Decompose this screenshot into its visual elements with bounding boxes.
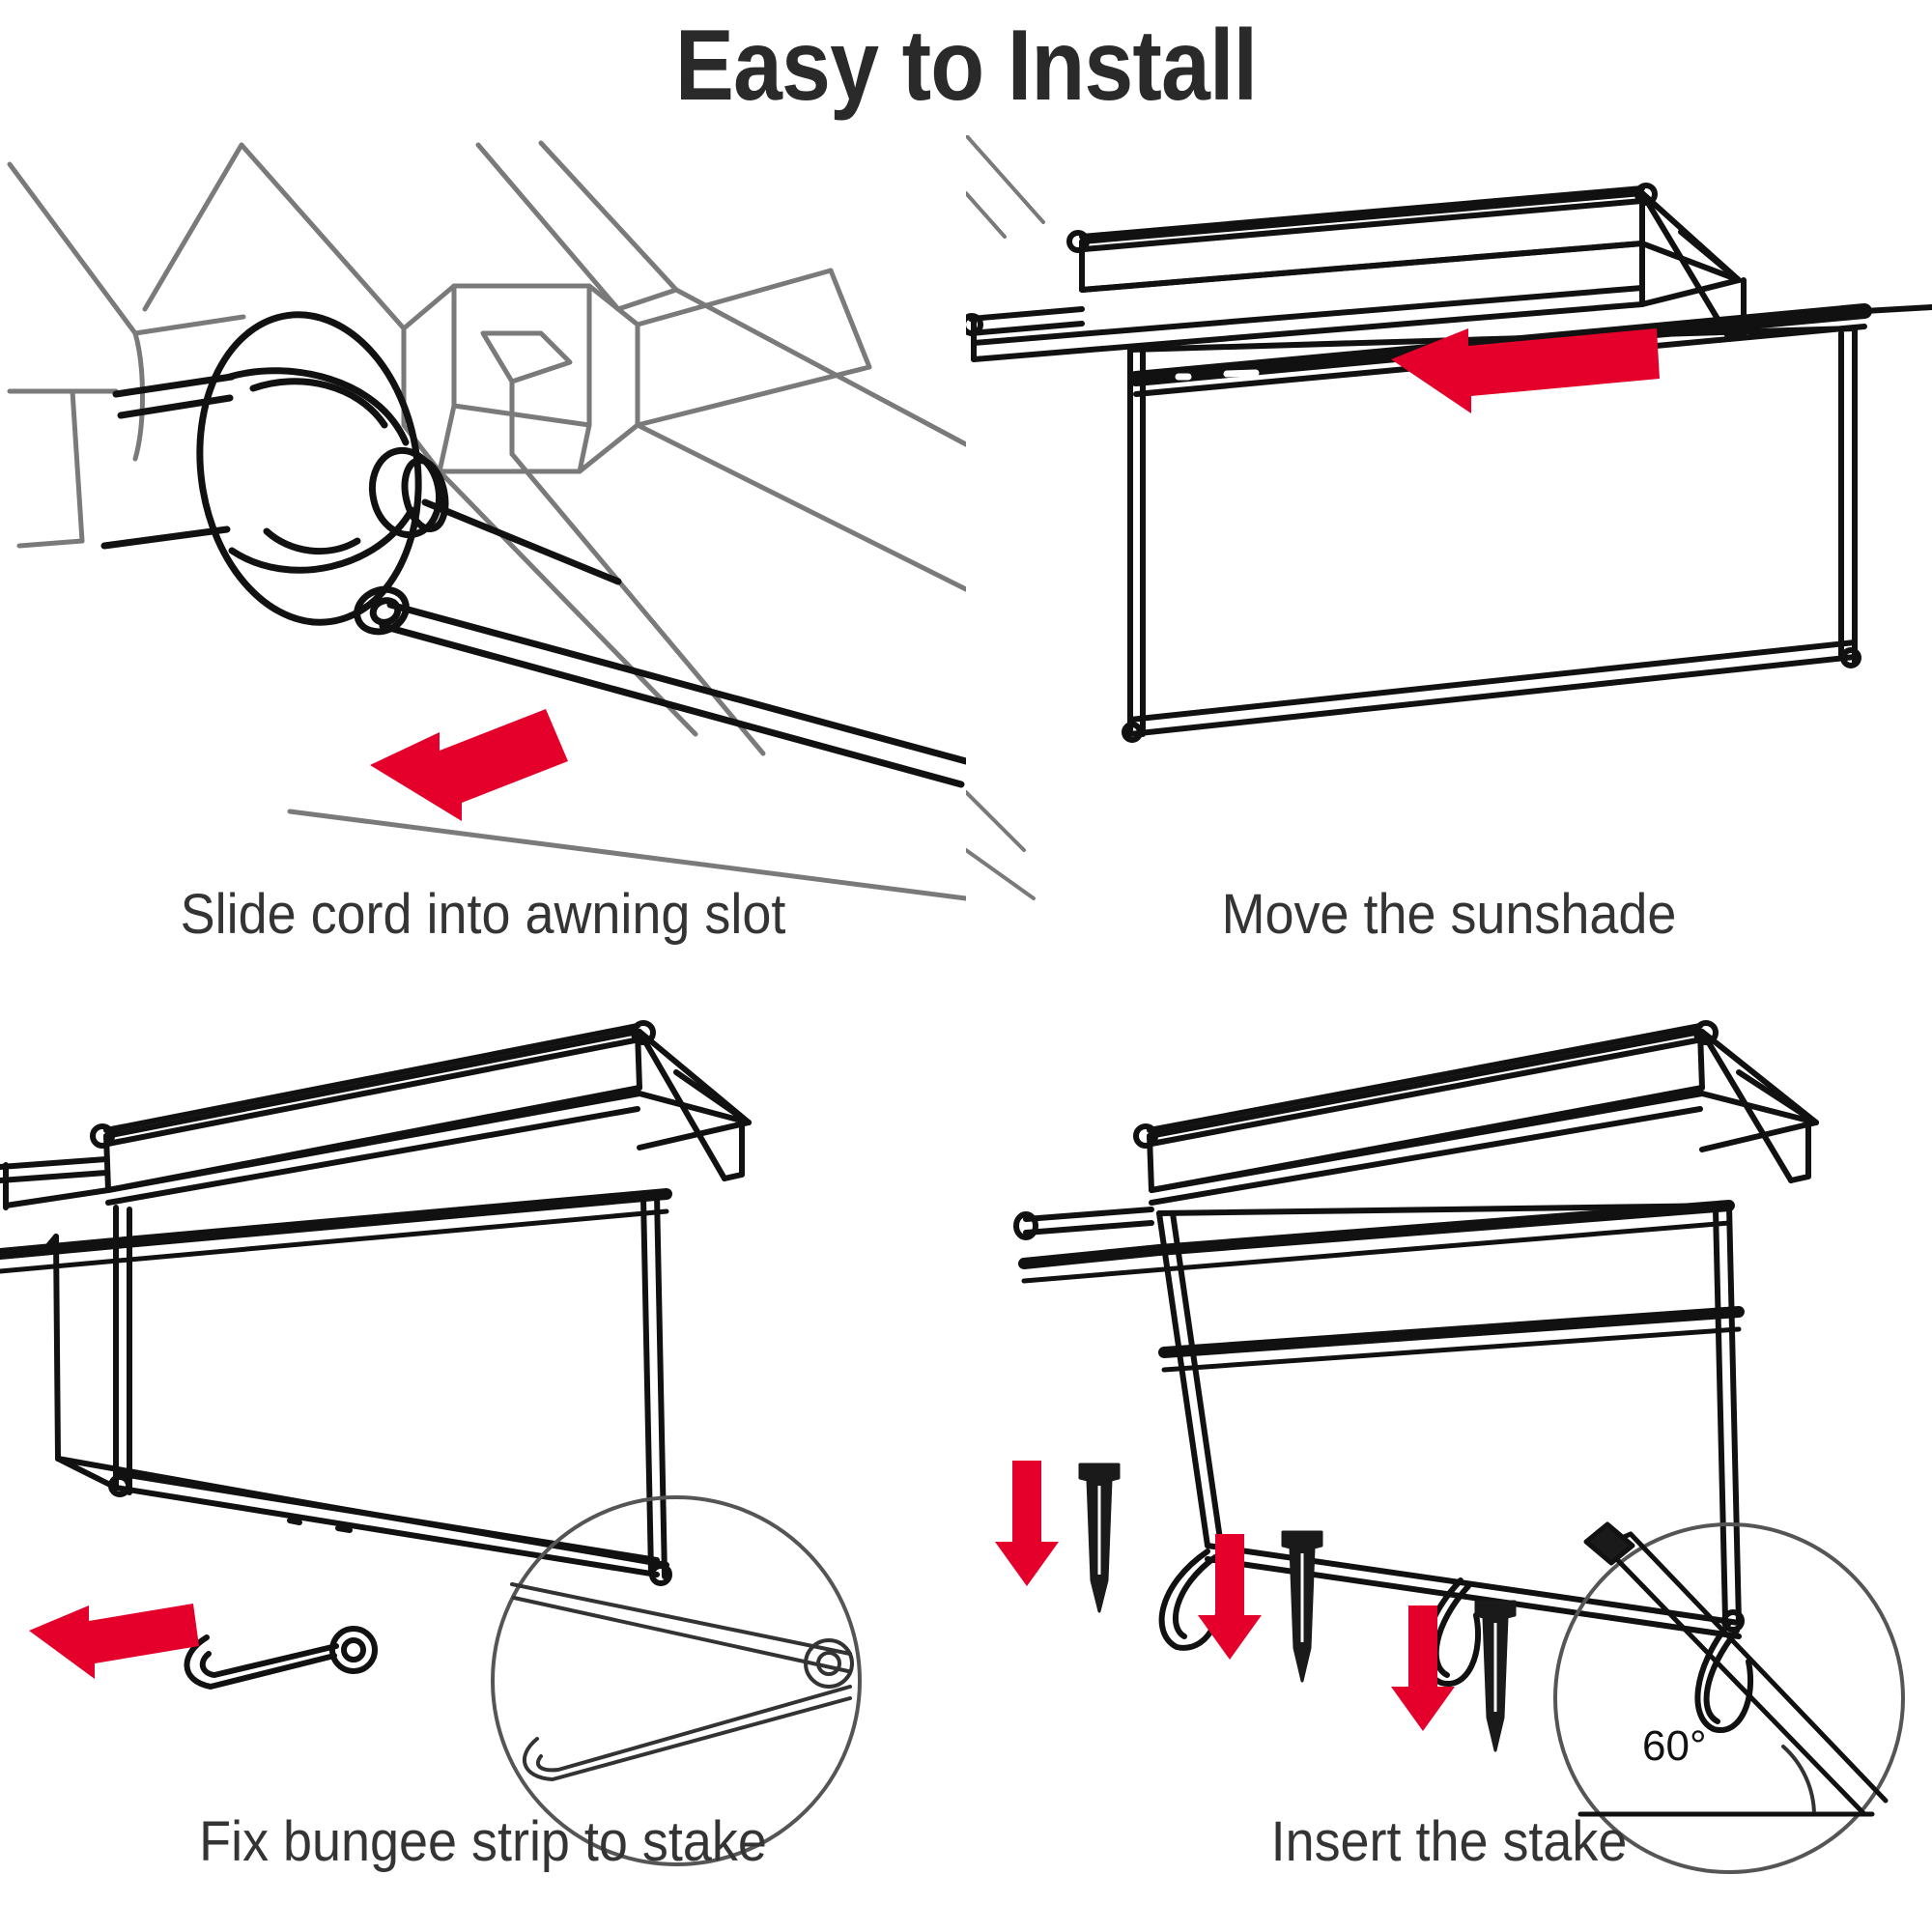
step-panel-fix-bungee: Fix bungee strip to stake [0, 1005, 966, 1893]
arrow-red [370, 709, 568, 821]
caption-slide-cord: Slide cord into awning slot [34, 881, 932, 949]
step-panel-slide-cord: Slide cord into awning slot [0, 135, 966, 1005]
angle-annotation-label: 60° [1642, 1722, 1707, 1770]
illustration-fix-bungee [0, 1005, 966, 1893]
illustration-move-sunshade [966, 135, 1932, 1005]
page-title: Easy to Install [116, 8, 1816, 124]
instruction-sheet: Easy to Install [0, 0, 1932, 1932]
illustration-insert-stake: 60° [966, 1005, 1932, 1893]
caption-insert-stake: Insert the stake [1000, 1808, 1898, 1876]
steps-grid: Slide cord into awning slot [0, 135, 1932, 1932]
step-panel-move-sunshade: Move the sunshade [966, 135, 1932, 1005]
caption-move-sunshade: Move the sunshade [1000, 881, 1898, 949]
caption-fix-bungee: Fix bungee strip to stake [34, 1808, 932, 1876]
illustration-slide-cord [0, 135, 966, 1005]
step-panel-insert-stake: 60° Insert the stake [966, 1005, 1932, 1893]
arrow-red [29, 1604, 199, 1679]
arrow-red [995, 1461, 1455, 1731]
